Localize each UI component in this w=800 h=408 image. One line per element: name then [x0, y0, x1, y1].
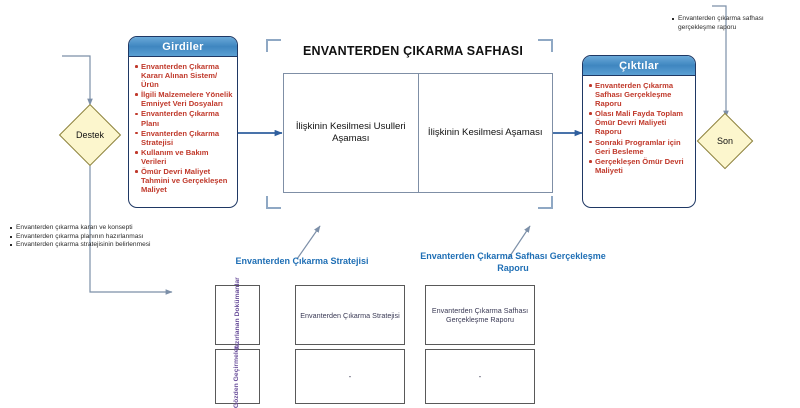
inputs-header: Girdiler: [129, 37, 237, 57]
caption-strategy: Envanterden Çıkarma Stratejisi: [212, 256, 392, 268]
matrix-cell: -: [295, 349, 405, 404]
list-item: Olası Mali Fayda Toplam Ömür Devri Maliy…: [588, 109, 691, 136]
list-item: Kullanım ve Bakım Verileri: [134, 148, 233, 166]
matrix-row-header-0: Hazırlanan Dokümanlar: [215, 285, 260, 345]
outputs-body: Envanterden Çıkarma Safhası Gerçekleşme …: [583, 76, 695, 179]
note-item: Envanterden çıkarma kararı ve konsepti: [10, 224, 151, 233]
inputs-panel: Girdiler Envanterden Çıkarma Kararı Alın…: [128, 36, 238, 208]
list-item: Envanterden Çıkarma Planı: [134, 109, 233, 127]
caption-report: Envanterden Çıkarma Safhası Gerçekleşme …: [420, 251, 606, 274]
connector-entry-destek: [62, 56, 90, 105]
outputs-list: Envanterden Çıkarma Safhası Gerçekleşme …: [588, 81, 691, 175]
list-item: Ömür Devri Maliyet Tahmini ve Gerçekleşe…: [134, 167, 233, 194]
left-notes: Envanterden çıkarma kararı ve konsepti E…: [10, 224, 151, 250]
top-right-note: Envanterden çıkarma safhası gerçekleşme …: [672, 15, 798, 32]
diagram-canvas: Girdiler Envanterden Çıkarma Kararı Alın…: [0, 0, 800, 407]
outputs-panel: Çıktılar Envanterden Çıkarma Safhası Ger…: [582, 55, 696, 208]
process-step-2[interactable]: İlişkinin Kesilmesi Aşaması: [418, 74, 553, 192]
son-node: Son: [698, 126, 752, 156]
destek-node: Destek: [60, 120, 120, 150]
matrix-cell-text: -: [349, 372, 352, 381]
list-item: Envanterden Çıkarma Kararı Alınan Sistem…: [134, 62, 233, 89]
inputs-body: Envanterden Çıkarma Kararı Alınan Sistem…: [129, 57, 237, 198]
outputs-header: Çıktılar: [583, 56, 695, 76]
matrix-cell: -: [425, 349, 535, 404]
matrix-cell: Envanterden Çıkarma Safhası Gerçekleşme …: [425, 285, 535, 345]
connector-caption-strategy: [297, 226, 320, 259]
note-item: Envanterden çıkarma stratejisinin belirl…: [10, 241, 151, 250]
phase-title: ENVANTERDEN ÇIKARMA SAFHASI: [303, 44, 523, 58]
matrix-row-header-1: Gözden Geçirmeler: [215, 349, 260, 404]
process-container: İlişkinin Kesilmesi Usulleri Aşaması İli…: [283, 73, 553, 193]
note-item: Envanterden çıkarma planının hazırlanmas…: [10, 233, 151, 242]
matrix-row-header-label: Hazırlanan Dokümanlar: [234, 277, 242, 353]
list-item: Envanterden Çıkarma Stratejisi: [134, 129, 233, 147]
matrix-row-header-label: Gözden Geçirmeler: [234, 345, 242, 407]
process-step-1[interactable]: İlişkinin Kesilmesi Usulleri Aşaması: [284, 74, 418, 192]
list-item: Sonraki Programlar için Geri Besleme: [588, 138, 691, 156]
list-item: İlgili Malzemelere Yönelik Emniyet Veri …: [134, 90, 233, 108]
matrix-cell: Envanterden Çıkarma Stratejisi: [295, 285, 405, 345]
matrix-cell-text: Envanterden Çıkarma Stratejisi: [300, 311, 399, 320]
matrix-cell-text: -: [479, 372, 482, 381]
list-item: Gerçekleşen Ömür Devri Maliyeti: [588, 157, 691, 175]
matrix-cell-text: Envanterden Çıkarma Safhası Gerçekleşme …: [426, 306, 534, 324]
inputs-list: Envanterden Çıkarma Kararı Alınan Sistem…: [134, 62, 233, 194]
list-item: Envanterden Çıkarma Safhası Gerçekleşme …: [588, 81, 691, 108]
